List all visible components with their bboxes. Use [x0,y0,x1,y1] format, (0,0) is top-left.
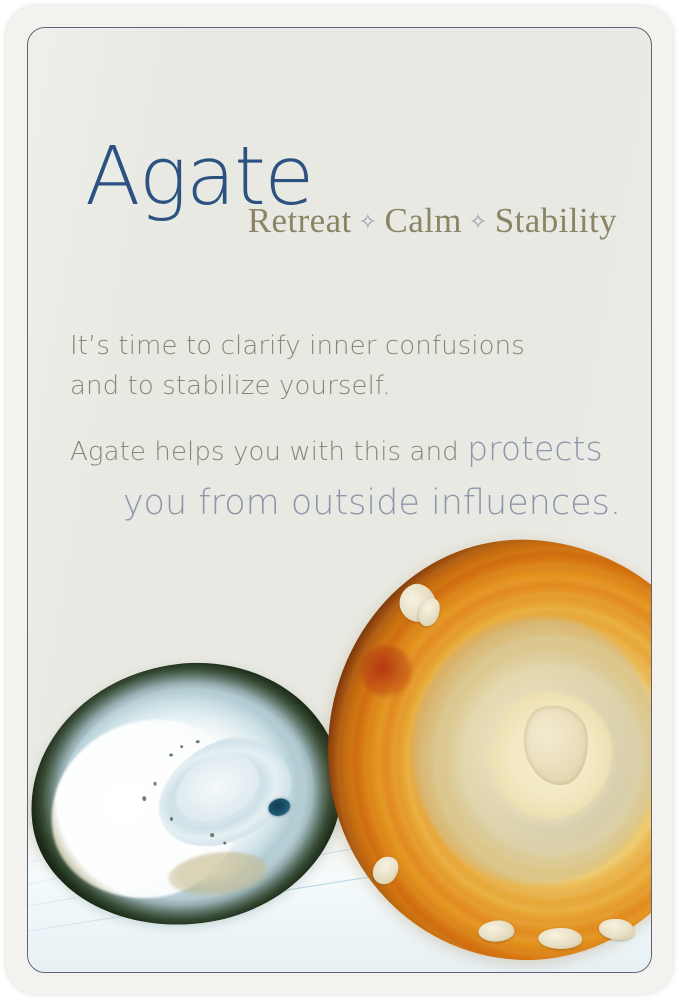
agate-blue-olive-rim [28,646,357,942]
keyword-line: Retreat✧Calm✧Stability [28,201,617,241]
paragraph-one: It’s time to clarify inner confusions an… [70,326,625,406]
card-face: Agate Retreat✧Calm✧Stability It’s time t… [27,27,652,973]
photo-clip [28,528,651,972]
keyword-calm: Calm [384,201,461,240]
paragraph-one-line-one: It’s time to clarify inner confusions [70,331,525,361]
orange-banded-agate-slice [317,530,651,970]
paragraph-two: Agate helps you with this and protects y… [70,432,625,525]
oracle-card: Agate Retreat✧Calm✧Stability It’s time t… [6,6,673,994]
diamond-separator-icon: ✧ [462,209,495,234]
paragraph-one-line-two: and to stabilize yourself. [70,371,391,401]
paragraph-two-emphasis: protects [467,429,603,468]
paragraph-two-lead: Agate helps you with this and [70,437,467,467]
keyword-stability: Stability [495,201,617,240]
paragraph-two-line-two: you from outside influences. [70,481,625,525]
body-copy: It’s time to clarify inner confusions an… [70,300,625,551]
blue-white-agate-slice [28,646,357,942]
keyword-retreat: Retreat [248,201,352,240]
agate-photograph [28,528,651,972]
diamond-separator-icon: ✧ [352,209,385,234]
